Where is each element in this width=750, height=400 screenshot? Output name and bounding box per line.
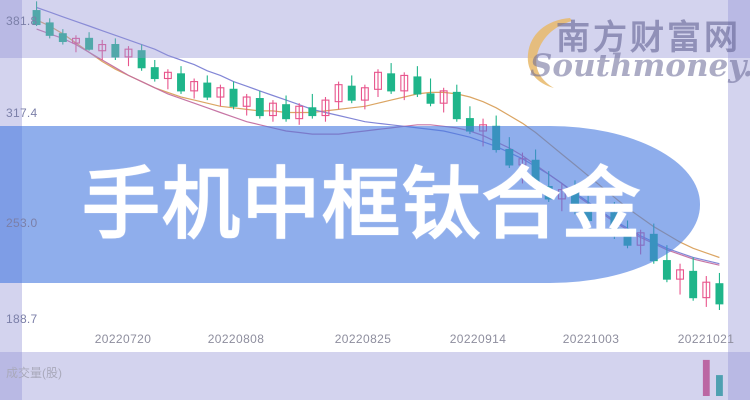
x-axis-tick-label: 20221003: [563, 332, 620, 346]
x-axis-tick-label: 20220808: [208, 332, 265, 346]
x-axis-tick-label: 20220720: [95, 332, 152, 346]
y-axis-tick-label: 317.4: [6, 106, 38, 120]
x-axis-tick-label: 20221021: [678, 332, 735, 346]
x-axis-tick-label: 20220825: [335, 332, 392, 346]
stock-chart-image: 手机中框钛合金 381.8317.4253.0188.7 20220720202…: [0, 0, 750, 400]
volume-axis-title: 成交量(股): [6, 364, 62, 381]
y-axis-tick-label: 253.0: [6, 216, 38, 230]
x-axis-tick-label: 20220914: [450, 332, 507, 346]
y-axis-tick-label: 188.7: [6, 312, 38, 326]
y-axis-tick-label: 381.8: [6, 14, 38, 28]
banner-title-text: 手机中框钛合金: [0, 126, 700, 283]
